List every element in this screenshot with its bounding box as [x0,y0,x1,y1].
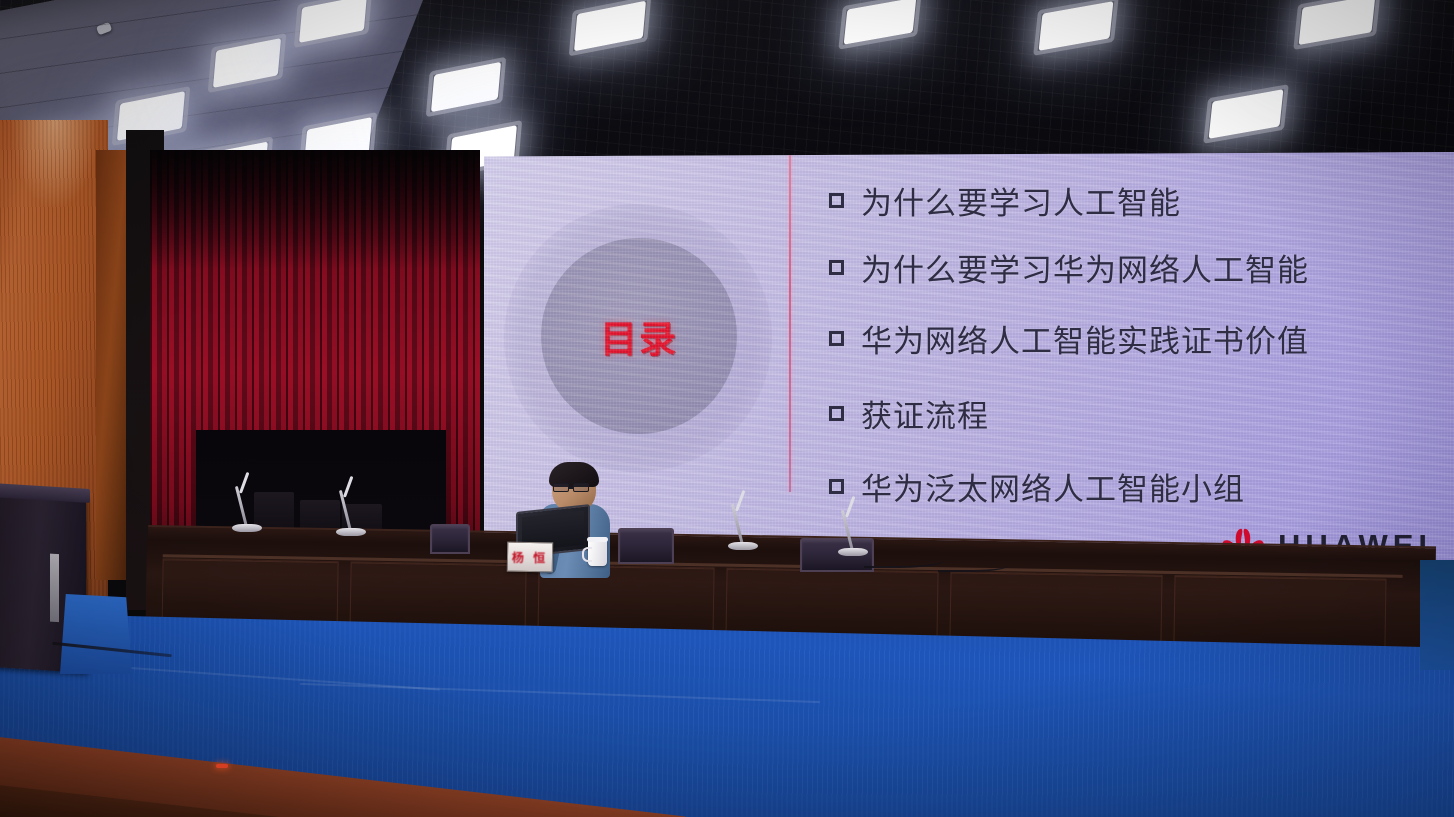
wall-light-glow [10,120,100,210]
toc-circle: 目录 [541,238,737,434]
glasses-icon [553,483,595,492]
floor-right-gap [1420,560,1454,670]
list-item: 为什么要学习人工智能 [829,178,1429,223]
list-item: 华为网络人工智能实践证书价值 [829,316,1429,361]
ceiling-light [213,38,281,88]
stage-marker-light [216,764,228,768]
list-item-label: 为什么要学习华为网络人工智能 [861,245,1309,290]
vertical-divider [789,154,791,492]
name-plate-text: 杨 恒 [512,548,549,566]
square-bullet-icon [829,479,844,494]
microphone [838,508,870,556]
square-bullet-icon [829,260,844,275]
list-item: 获证流程 [829,391,1429,436]
list-item-label: 获证流程 [861,391,989,436]
ceiling-light [1039,1,1114,51]
list-item: 为什么要学习华为网络人工智能 [829,245,1429,290]
auditorium-photo: 目录 为什么要学习人工智能 为什么要学习华为网络人工智能 华为网络人工智能实践证… [0,0,1454,817]
floor-ramp [60,594,132,674]
smoke-detector-icon [96,22,112,35]
microphone [728,498,760,550]
curtain-top-shadow [150,150,480,270]
list-item-label: 华为泛太网络人工智能小组 [861,464,1245,509]
microphone [232,480,264,532]
chair [430,524,470,554]
name-plate: 杨 恒 [507,542,554,573]
square-bullet-icon [829,331,844,346]
mug [588,540,607,566]
toc-title: 目录 [600,309,678,363]
square-bullet-icon [829,406,844,421]
ceiling-light [431,62,501,112]
microphone [336,484,368,536]
list-item-label: 华为网络人工智能实践证书价值 [861,316,1309,361]
list-item: 华为泛太网络人工智能小组 [829,464,1429,509]
agenda-list: 为什么要学习人工智能 为什么要学习华为网络人工智能 华为网络人工智能实践证书价值… [829,178,1429,509]
chair [618,528,674,564]
lectern-label-strip [50,554,59,623]
ceiling-light [1209,89,1284,139]
list-item-label: 为什么要学习人工智能 [861,178,1181,223]
square-bullet-icon [829,193,844,208]
